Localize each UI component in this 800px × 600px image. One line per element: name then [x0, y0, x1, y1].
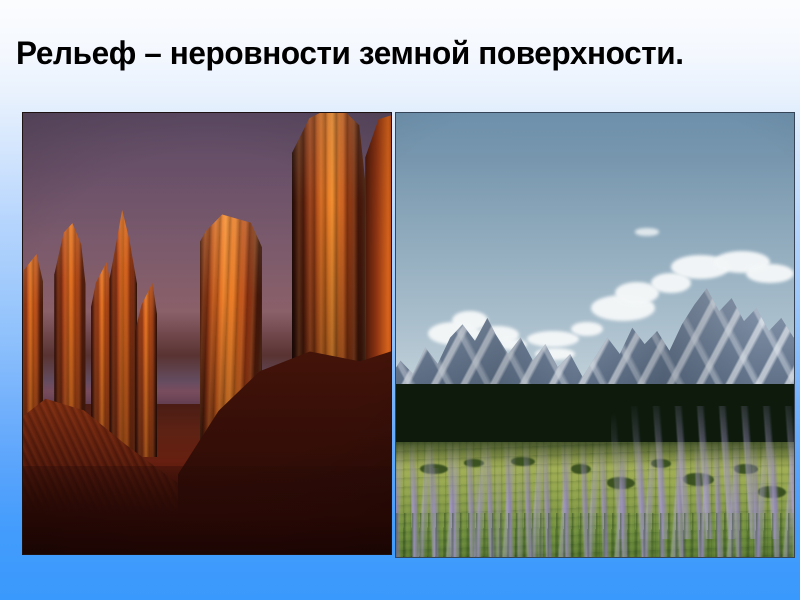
slide-title-placeholder[interactable]: Рельеф – неровности земной поверхности.: [16, 28, 788, 80]
mountain-meadow-photo[interactable]: [395, 112, 795, 558]
desert-vignette: [23, 113, 391, 554]
slide: Рельеф – неровности земной поверхности.: [0, 0, 800, 600]
slide-title: Рельеф – неровности земной поверхности.: [16, 37, 684, 71]
desert-buttes-photo[interactable]: [22, 112, 392, 555]
mountain-vignette: [396, 113, 794, 557]
